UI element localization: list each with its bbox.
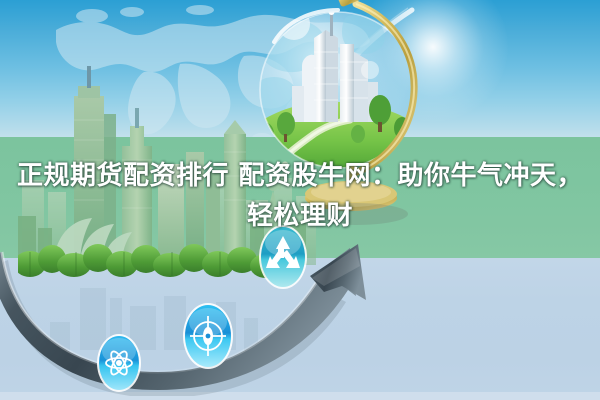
glass-globe [252,0,442,247]
promo-banner: 正规期货配资排行 配资股牛网：助你牛气冲天，轻松理财 [0,0,600,400]
recycle-icon[interactable] [258,224,308,290]
atom-icon[interactable] [96,333,142,393]
compass-icon[interactable] [182,302,234,370]
